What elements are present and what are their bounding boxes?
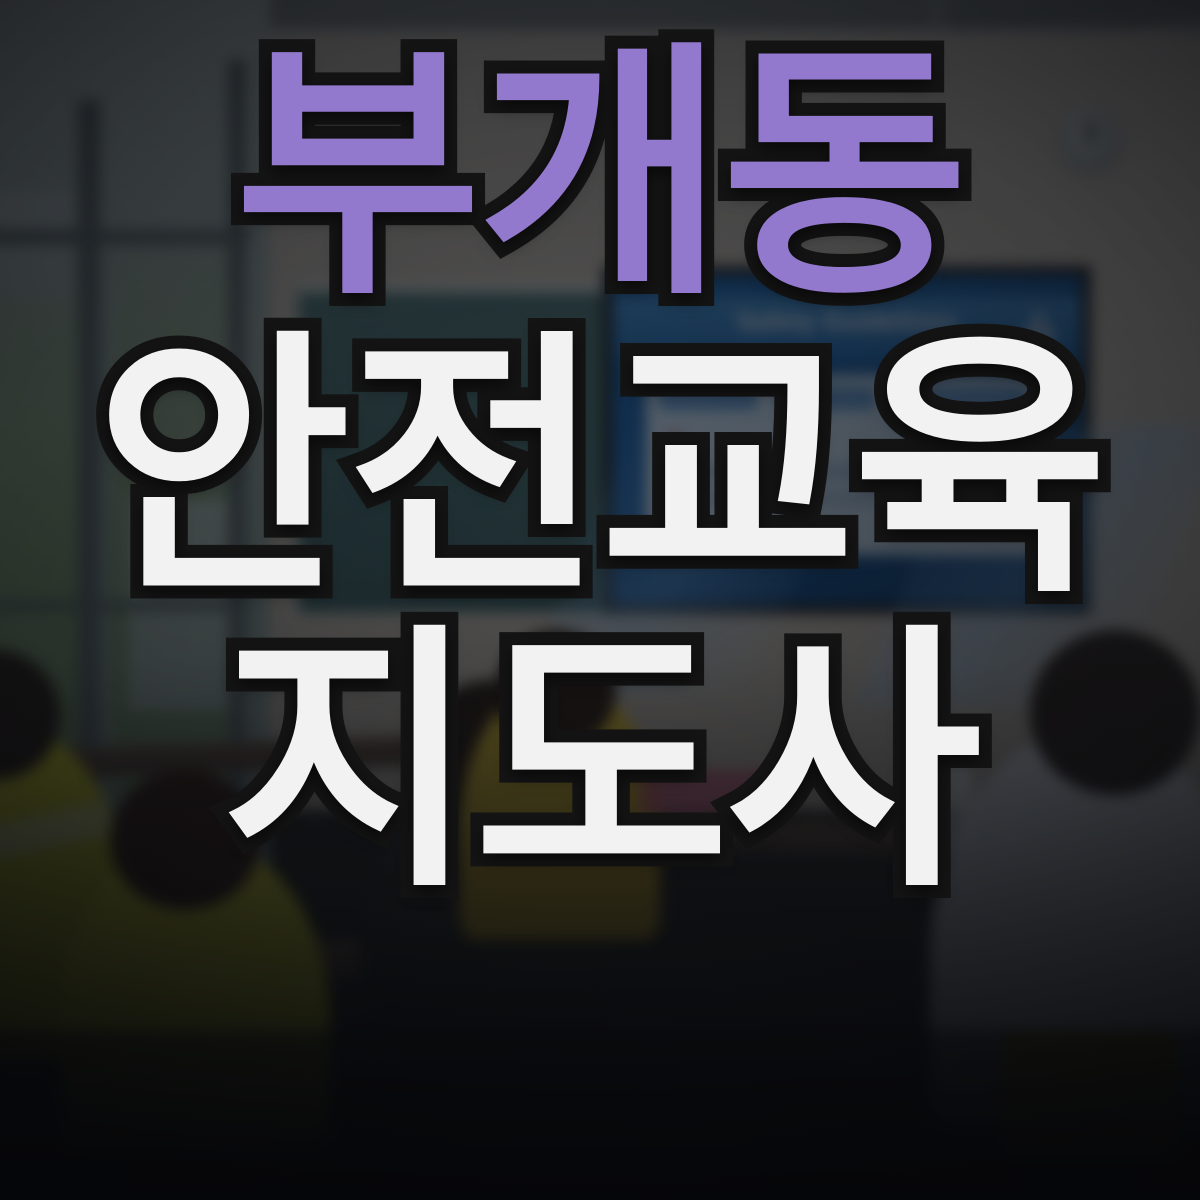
headline-line-2: 안전교육 — [95, 333, 1105, 605]
headline-line-1: 부개동 — [235, 44, 965, 307]
headline-line-3: 지도사 — [221, 627, 978, 899]
promo-card: Safety Guidelines — [0, 0, 1200, 1200]
headline-stack: 부개동 안전교육 지도사 — [0, 0, 1200, 1200]
